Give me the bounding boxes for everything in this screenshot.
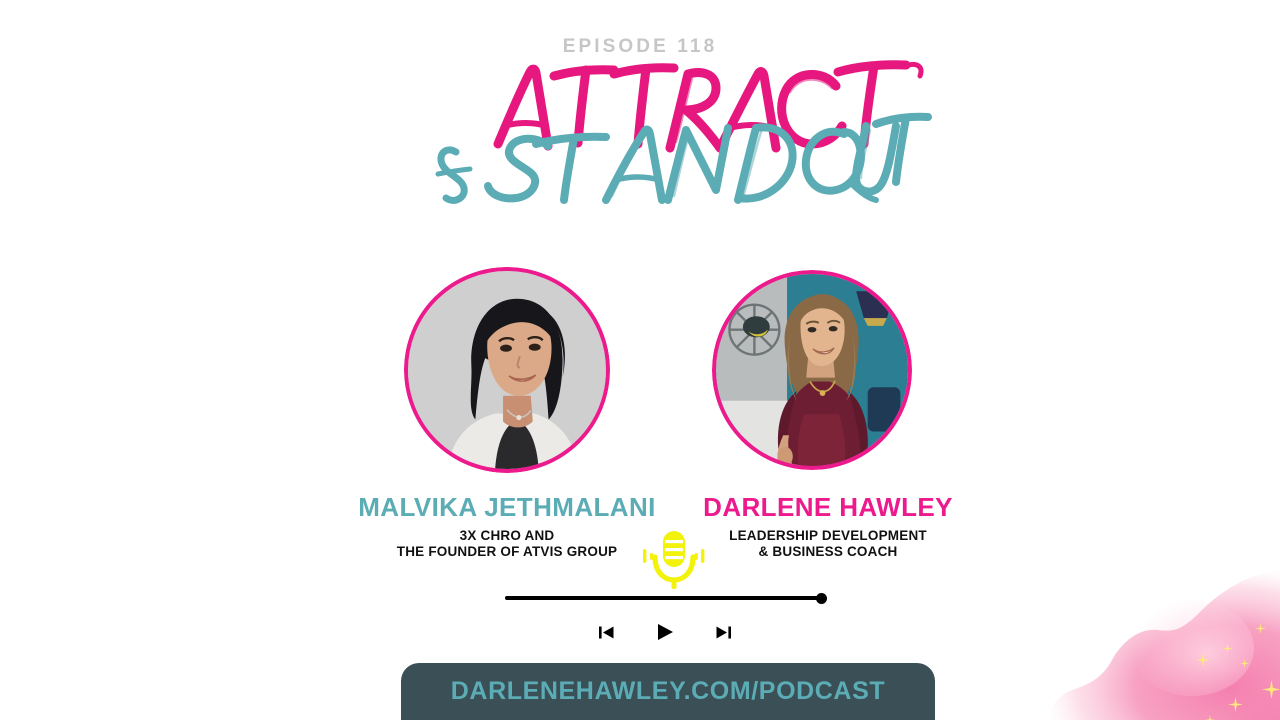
progress-thumb[interactable] — [816, 593, 827, 604]
previous-track-icon[interactable] — [597, 623, 616, 642]
sparkle-star-icon — [1205, 712, 1215, 720]
audio-progress-slider[interactable] — [505, 594, 823, 602]
progress-track-line — [505, 596, 823, 600]
show-title-logo — [420, 48, 940, 218]
photo-ring — [404, 267, 610, 473]
play-icon[interactable] — [654, 621, 676, 643]
podcast-episode-graphic: EPISODE 118 — [0, 0, 1280, 720]
sparkle-star-icon — [1222, 641, 1233, 659]
sparkle-star-icon — [1240, 655, 1249, 673]
podcast-url-banner[interactable]: DARLENEHAWLEY.COM/PODCAST — [401, 663, 935, 720]
sparkle-star-icon — [1196, 653, 1210, 672]
guest-photo-malvika-jethmalani — [404, 267, 610, 473]
guest-name-darlene: DARLENE HAWLEY — [640, 492, 1016, 523]
sparkle-star-icon — [1262, 680, 1280, 704]
photo-ring — [712, 270, 912, 470]
guest-photo-darlene-hawley — [712, 270, 912, 470]
sparkle-star-icon — [1255, 621, 1266, 639]
player-controls — [585, 620, 745, 644]
sparkle-star-icon — [1228, 697, 1243, 717]
pink-watercolor-decoration — [1050, 560, 1280, 720]
podcast-url-text: DARLENEHAWLEY.COM/PODCAST — [451, 677, 885, 706]
logo-line-stand-out — [438, 117, 928, 201]
next-track-icon[interactable] — [714, 623, 733, 642]
microphone-icon — [641, 527, 707, 589]
